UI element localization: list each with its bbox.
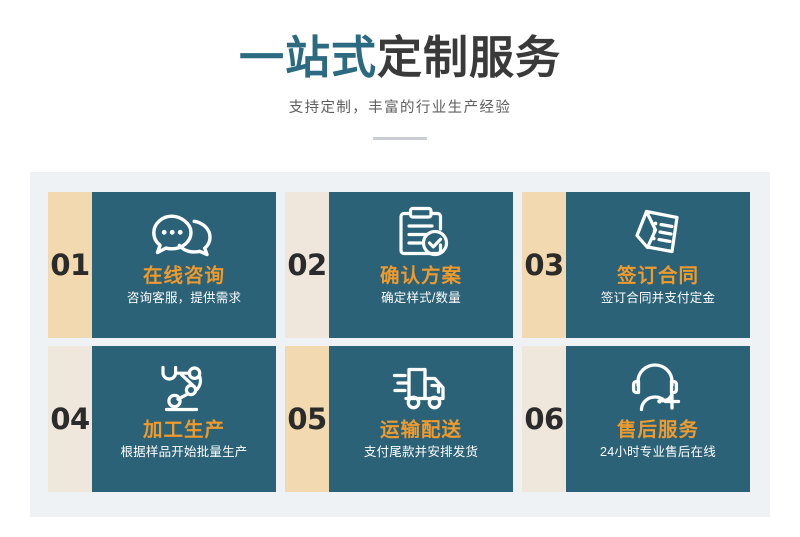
step-title: 售后服务 bbox=[617, 418, 699, 442]
step-card-body: 签订合同 签订合同并支付定金 bbox=[566, 192, 750, 338]
clipboard-check-icon bbox=[392, 204, 450, 262]
step-title: 在线咨询 bbox=[143, 264, 225, 288]
step-number-badge: 01 bbox=[48, 192, 92, 338]
page-root: 一站式定制服务 支持定制，丰富的行业生产经验 01 bbox=[0, 0, 800, 537]
delivery-truck-icon bbox=[389, 358, 453, 416]
step-card-body: 加工生产 根据样品开始批量生产 bbox=[92, 346, 276, 492]
steps-panel: 01 在线咨询 咨询客服，提供需求 bbox=[30, 172, 770, 517]
step-card-01[interactable]: 01 在线咨询 咨询客服，提供需求 bbox=[48, 192, 276, 338]
page-title: 一站式定制服务 bbox=[0, 0, 800, 86]
step-subtitle: 支付尾款并安排发货 bbox=[364, 445, 478, 460]
step-card-06[interactable]: 06 售后服务 bbox=[522, 346, 750, 492]
step-card-body: 运输配送 支付尾款并安排发货 bbox=[329, 346, 513, 492]
step-card-body: 售后服务 24小时专业售后在线 bbox=[566, 346, 750, 492]
step-number-badge: 03 bbox=[522, 192, 566, 338]
step-subtitle: 24小时专业售后在线 bbox=[600, 445, 716, 460]
step-number-badge: 06 bbox=[522, 346, 566, 492]
header-divider bbox=[373, 137, 427, 140]
step-card-body: 确认方案 确定样式/数量 bbox=[329, 192, 513, 338]
step-number-badge: 02 bbox=[285, 192, 329, 338]
step-subtitle: 咨询客服，提供需求 bbox=[127, 291, 241, 306]
robot-arm-icon bbox=[155, 358, 213, 416]
page-title-rest: 定制服务 bbox=[377, 32, 561, 83]
step-subtitle: 根据样品开始批量生产 bbox=[120, 445, 247, 460]
chat-bubbles-icon bbox=[151, 204, 217, 262]
page-title-accent: 一站式 bbox=[239, 32, 377, 83]
step-card-body: 在线咨询 咨询客服，提供需求 bbox=[92, 192, 276, 338]
step-number-badge: 05 bbox=[285, 346, 329, 492]
headset-support-icon bbox=[628, 358, 688, 416]
step-card-05[interactable]: 05 bbox=[285, 346, 513, 492]
step-title: 确认方案 bbox=[380, 264, 462, 288]
step-card-03[interactable]: 03 签订合同 bbox=[522, 192, 750, 338]
step-title: 运输配送 bbox=[380, 418, 462, 442]
step-title: 签订合同 bbox=[617, 264, 699, 288]
step-subtitle: 签订合同并支付定金 bbox=[601, 291, 715, 306]
step-number-badge: 04 bbox=[48, 346, 92, 492]
step-title: 加工生产 bbox=[143, 418, 225, 442]
page-header: 一站式定制服务 支持定制，丰富的行业生产经验 bbox=[0, 0, 800, 140]
page-subtitle: 支持定制，丰富的行业生产经验 bbox=[0, 86, 800, 117]
step-subtitle: 确定样式/数量 bbox=[381, 291, 461, 306]
step-card-04[interactable]: 04 bbox=[48, 346, 276, 492]
contract-document-icon bbox=[630, 204, 686, 262]
steps-grid: 01 在线咨询 咨询客服，提供需求 bbox=[48, 192, 752, 492]
step-card-02[interactable]: 02 确认方案 bbox=[285, 192, 513, 338]
